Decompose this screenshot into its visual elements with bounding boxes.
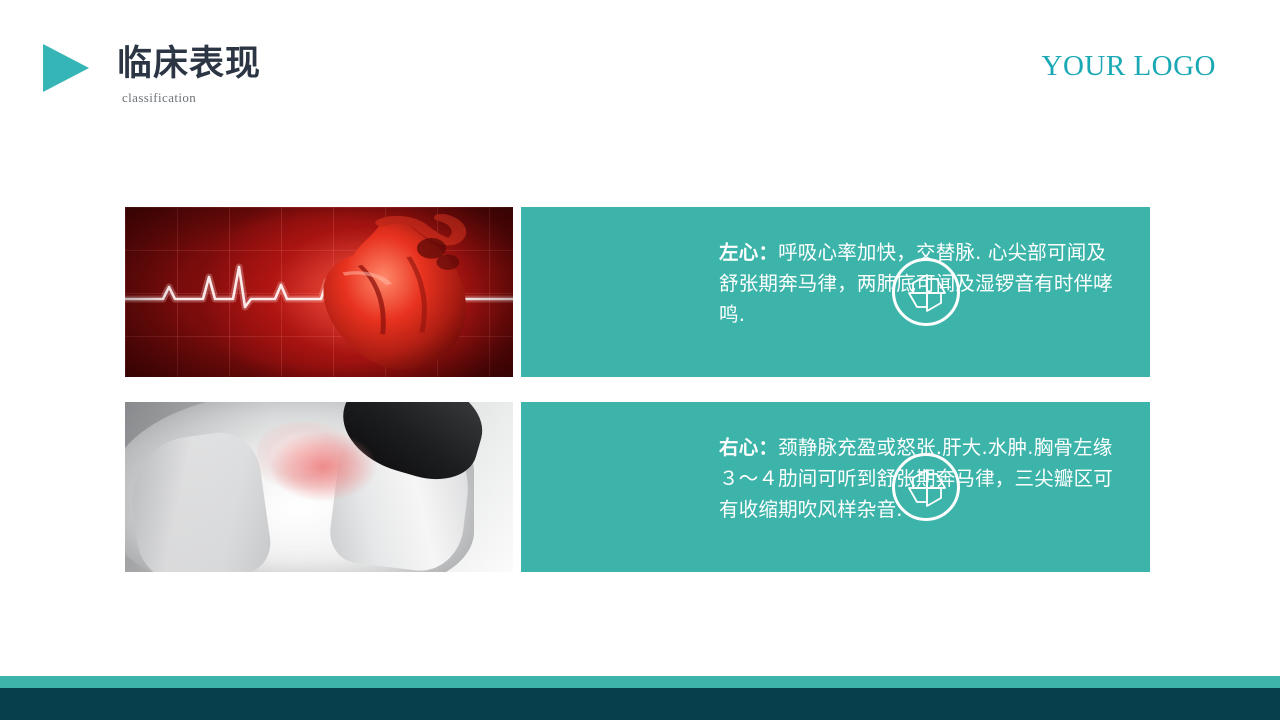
content-row: 右心：颈静脉充盈或怒张.肝大.水肿.胸骨左缘 ３～４肋间可听到舒张期奔马律，三尖…: [125, 402, 1150, 572]
row-text: 右心：颈静脉充盈或怒张.肝大.水肿.胸骨左缘 ３～４肋间可听到舒张期奔马律，三尖…: [719, 432, 1121, 525]
row-text-panel: 右心：颈静脉充盈或怒张.肝大.水肿.胸骨左缘 ３～４肋间可听到舒张期奔马律，三尖…: [521, 402, 1150, 572]
row-text-lead: 右心：: [719, 436, 778, 459]
row-text-panel: 左心：呼吸心率加快，交替脉. 心尖部可闻及舒张期奔马律，两肺底可闻及湿锣音有时伴…: [521, 207, 1150, 377]
slide: 临床表现 classification YOUR LOGO: [0, 0, 1280, 720]
heart-ecg-illustration: [125, 207, 513, 377]
footer-teal-bar: [0, 676, 1280, 688]
row-text-body: 呼吸心率加快，交替脉. 心尖部可闻及舒张期奔马律，两肺底可闻及湿锣音有时伴哮鸣.: [719, 241, 1113, 326]
chest-pain-illustration: [125, 402, 513, 572]
image-shading: [125, 402, 513, 572]
play-triangle-icon: [43, 44, 89, 92]
page-title: 临床表现: [117, 42, 261, 86]
footer-dark-bar: [0, 688, 1280, 720]
row-text-lead: 左心：: [719, 241, 778, 264]
row-text-body: 颈静脉充盈或怒张.肝大.水肿.胸骨左缘 ３～４肋间可听到舒张期奔马律，三尖瓣区可…: [719, 436, 1113, 521]
content-row: 左心：呼吸心率加快，交替脉. 心尖部可闻及舒张期奔马律，两肺底可闻及湿锣音有时伴…: [125, 207, 1150, 377]
row-thumbnail-chest-pain: [125, 402, 513, 572]
row-text: 左心：呼吸心率加快，交替脉. 心尖部可闻及舒张期奔马律，两肺底可闻及湿锣音有时伴…: [719, 237, 1121, 330]
slide-header: 临床表现 classification YOUR LOGO: [0, 0, 1280, 120]
page-subtitle: classification: [122, 90, 261, 106]
row-thumbnail-heart: [125, 207, 513, 377]
image-vignette: [125, 207, 513, 377]
logo-text: YOUR LOGO: [1042, 50, 1216, 83]
title-block: 临床表现 classification: [117, 42, 261, 106]
